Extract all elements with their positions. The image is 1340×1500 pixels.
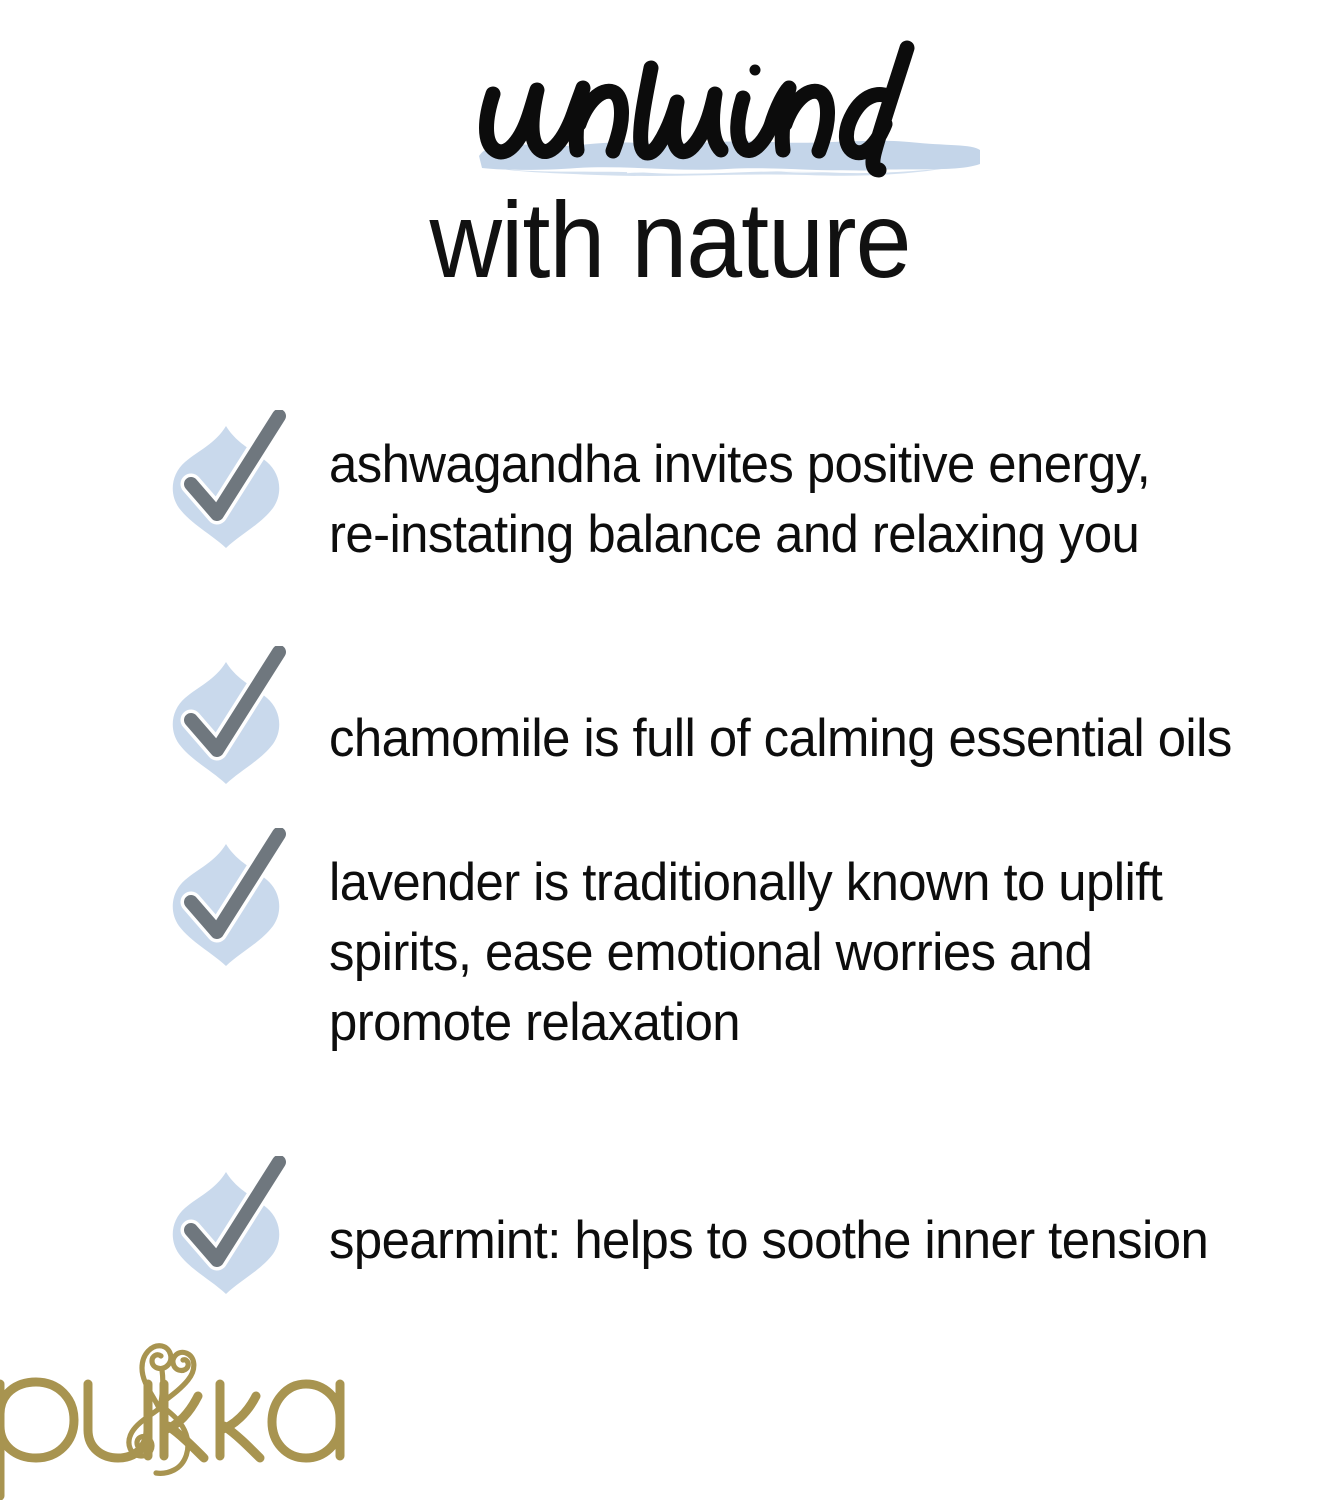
benefit-text: lavender is traditionally known to uplif… (329, 828, 1300, 1058)
leaf-check-icon (165, 1156, 287, 1296)
benefit-line: re-instating balance and relaxing you (329, 500, 1300, 570)
leaf-check-icon (165, 646, 287, 786)
leaf-check-icon (165, 410, 287, 550)
script-headline-unwind (455, 32, 995, 182)
leaf-check-icon (165, 828, 287, 968)
list-item: ashwagandha invites positive energy, re-… (0, 410, 1340, 570)
benefit-text: ashwagandha invites positive energy, re-… (329, 410, 1300, 570)
page-subtitle: with nature (47, 186, 1293, 294)
benefit-line: ashwagandha invites positive energy, (329, 430, 1300, 500)
benefit-line: spearmint: helps to soothe inner tension (329, 1206, 1300, 1276)
pukka-logo (0, 1318, 352, 1500)
product-benefits-page: with nature ashwagandha invites positive… (0, 0, 1340, 1500)
benefit-line: chamomile is full of calming essential o… (329, 704, 1300, 774)
list-item: lavender is traditionally known to uplif… (0, 828, 1340, 1058)
headline-block: with nature (0, 0, 1340, 330)
benefit-line: lavender is traditionally known to uplif… (329, 848, 1300, 918)
benefit-text: chamomile is full of calming essential o… (329, 646, 1300, 774)
script-headline-wrap (455, 32, 995, 182)
list-item: chamomile is full of calming essential o… (0, 646, 1340, 786)
benefit-line: spirits, ease emotional worries and (329, 918, 1300, 988)
benefit-text: spearmint: helps to soothe inner tension (329, 1156, 1300, 1276)
benefit-line: promote relaxation (329, 988, 1300, 1058)
list-item: spearmint: helps to soothe inner tension (0, 1156, 1340, 1296)
